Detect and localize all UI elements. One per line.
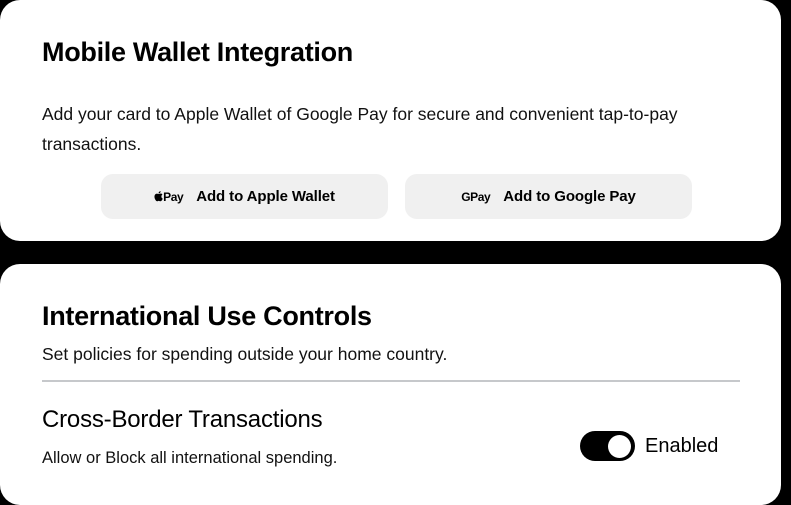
google-pay-mark-text: GPay xyxy=(461,191,490,203)
section-divider xyxy=(42,380,740,382)
cross-border-toggle-state-label: Enabled xyxy=(645,435,718,458)
international-card-subtitle: Set policies for spending outside your h… xyxy=(42,344,447,365)
add-to-apple-wallet-button[interactable]: Pay Add to Apple Wallet xyxy=(101,174,388,219)
wallet-buttons-group: Pay Add to Apple Wallet GPay Add to Goog… xyxy=(101,174,692,219)
wallet-card-description: Add your card to Apple Wallet of Google … xyxy=(42,99,772,159)
toggle-knob-icon xyxy=(608,435,631,458)
add-to-google-pay-label: Add to Google Pay xyxy=(503,188,635,205)
wallet-card-title: Mobile Wallet Integration xyxy=(42,37,353,68)
add-to-apple-wallet-label: Add to Apple Wallet xyxy=(196,188,335,205)
google-pay-logo-icon: GPay xyxy=(461,191,490,203)
international-card-title: International Use Controls xyxy=(42,301,372,332)
international-use-controls-card: International Use Controls Set policies … xyxy=(0,264,781,505)
cross-border-transactions-toggle[interactable] xyxy=(580,431,635,461)
cross-border-transactions-description: Allow or Block all international spendin… xyxy=(42,449,337,468)
apple-pay-logo-icon: Pay xyxy=(154,191,183,203)
mobile-wallet-integration-card: Mobile Wallet Integration Add your card … xyxy=(0,0,781,241)
cross-border-toggle-group: Enabled xyxy=(580,431,718,461)
apple-pay-mark-text: Pay xyxy=(163,191,183,203)
cross-border-transactions-title: Cross-Border Transactions xyxy=(42,406,322,434)
add-to-google-pay-button[interactable]: GPay Add to Google Pay xyxy=(405,174,692,219)
